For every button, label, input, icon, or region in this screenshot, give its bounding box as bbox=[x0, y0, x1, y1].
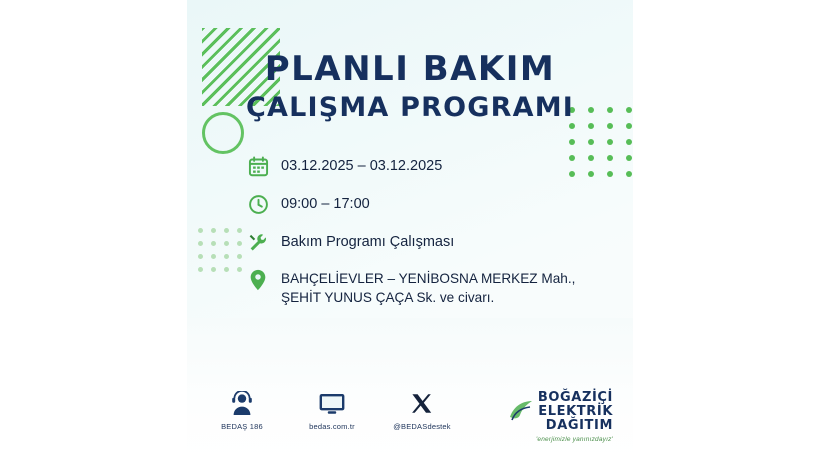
maintenance-notice-poster: PLANLI BAKIM ÇALIŞMA PROGRAMI bbox=[187, 0, 633, 461]
detail-row-time: 09:00 – 17:00 bbox=[245, 192, 625, 216]
footer-label-phone: BEDAŞ 186 bbox=[211, 422, 273, 431]
detail-row-worktype: Bakım Programı Çalışması bbox=[245, 230, 625, 254]
footer-item-social[interactable]: @BEDASdestek bbox=[391, 389, 453, 431]
clock-icon bbox=[245, 192, 271, 216]
detail-location-line2: ŞEHİT YUNUS ÇAÇA Sk. ve civarı. bbox=[281, 289, 575, 308]
bedas-logo-line3: DAĞITIM bbox=[536, 419, 613, 433]
detail-row-location: BAHÇELİEVLER – YENİBOSNA MERKEZ Mah., ŞE… bbox=[245, 268, 625, 308]
screenshot-root: PLANLI BAKIM ÇALIŞMA PROGRAMI bbox=[0, 0, 820, 461]
detail-location-text: BAHÇELİEVLER – YENİBOSNA MERKEZ Mah., ŞE… bbox=[281, 268, 575, 308]
detail-time-text: 09:00 – 17:00 bbox=[281, 192, 370, 214]
bedas-logo-line2: ELEKTRİK bbox=[536, 405, 613, 419]
bedas-swoosh-icon bbox=[508, 397, 534, 423]
bedas-logo: BOĞAZİÇİ ELEKTRİK DAĞITIM 'enerjimizle y… bbox=[536, 391, 613, 443]
poster-title-block: PLANLI BAKIM ÇALIŞMA PROGRAMI bbox=[187, 52, 633, 123]
calendar-icon bbox=[245, 154, 271, 178]
x-twitter-icon bbox=[391, 389, 453, 419]
bedas-logo-line1: BOĞAZİÇİ bbox=[536, 391, 613, 405]
detail-worktype-text: Bakım Programı Çalışması bbox=[281, 230, 454, 252]
footer-label-social: @BEDASdestek bbox=[391, 422, 453, 431]
notice-details: 03.12.2025 – 03.12.2025 09:00 – 17:00 bbox=[245, 154, 625, 322]
footer-label-website: bedas.com.tr bbox=[301, 422, 363, 431]
footer-item-website[interactable]: bedas.com.tr bbox=[301, 389, 363, 431]
bedas-logo-tagline: 'enerjimizle yanınızdayız' bbox=[536, 436, 613, 443]
call-center-agent-icon bbox=[211, 389, 273, 419]
poster-footer: BEDAŞ 186 bedas.com.tr bbox=[187, 389, 633, 447]
detail-date-text: 03.12.2025 – 03.12.2025 bbox=[281, 154, 442, 176]
footer-contact-list: BEDAŞ 186 bedas.com.tr bbox=[211, 389, 453, 431]
page-subtitle: ÇALIŞMA PROGRAMI bbox=[187, 92, 633, 123]
page-title: PLANLI BAKIM bbox=[187, 52, 633, 88]
tools-icon bbox=[245, 230, 271, 254]
monitor-icon bbox=[301, 389, 363, 419]
location-pin-icon bbox=[245, 268, 271, 292]
detail-row-date: 03.12.2025 – 03.12.2025 bbox=[245, 154, 625, 178]
dot-grid-left-decoration bbox=[198, 228, 242, 272]
detail-location-line1: BAHÇELİEVLER – YENİBOSNA MERKEZ Mah., bbox=[281, 270, 575, 289]
footer-item-phone[interactable]: BEDAŞ 186 bbox=[211, 389, 273, 431]
